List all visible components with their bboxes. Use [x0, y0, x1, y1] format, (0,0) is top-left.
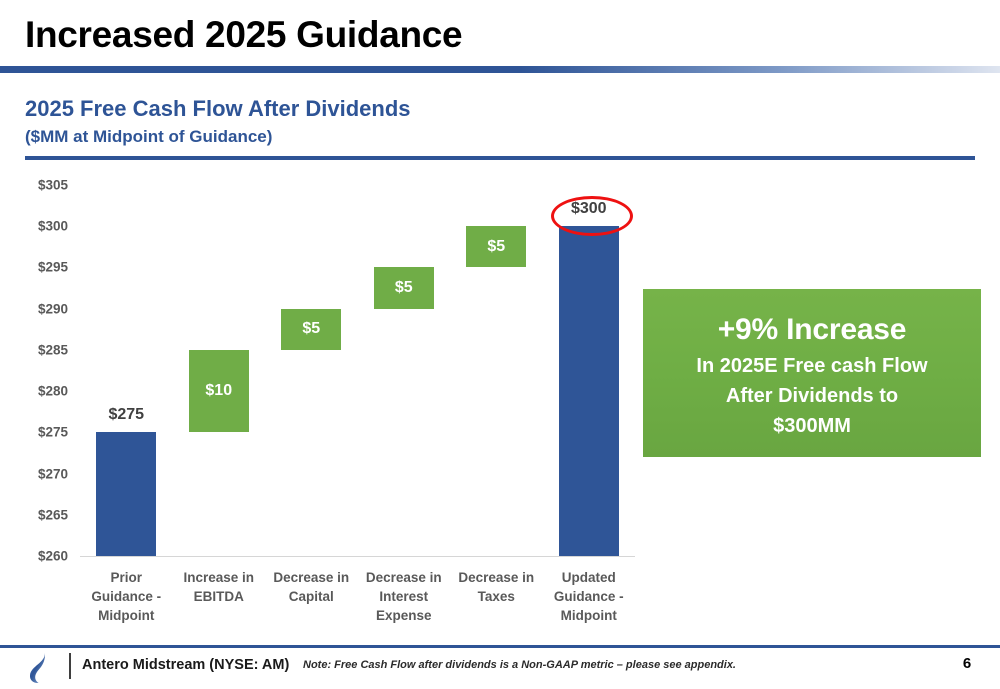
y-axis-tick: $305 [0, 178, 68, 193]
x-axis-label-line: Capital [267, 587, 356, 606]
x-axis-label: PriorGuidance -Midpoint [80, 562, 173, 628]
x-axis-line [80, 556, 635, 557]
x-axis-label: UpdatedGuidance -Midpoint [543, 562, 636, 628]
callout-headline: +9% Increase [643, 312, 981, 348]
plot-area: $275$10$5$5$5$300 [80, 185, 635, 556]
increase-callout-box: +9% Increase In 2025E Free cash Flow Aft… [643, 289, 981, 457]
x-axis-label-line: Decrease in [452, 568, 541, 587]
callout-line-3: $300MM [643, 411, 981, 441]
y-axis-tick: $270 [0, 466, 68, 481]
chart-bar[interactable]: $10 [189, 350, 249, 432]
x-axis-label-line: Decrease in [267, 568, 356, 587]
bar-value-label: $5 [466, 238, 526, 256]
chart-header-divider [25, 156, 975, 160]
chart-bar[interactable] [559, 226, 619, 556]
bar-value-label: $275 [96, 406, 156, 424]
callout-line-2: After Dividends to [643, 381, 981, 411]
antero-flame-logo-icon [26, 652, 54, 682]
x-axis-label: Decrease inCapital [265, 562, 358, 628]
x-axis-label-line: Updated [545, 568, 634, 587]
x-axis-label-line: Guidance - [82, 587, 171, 606]
x-axis-label-line: Interest [360, 587, 449, 606]
x-axis-label-line: Guidance - [545, 587, 634, 606]
footer-divider-line [0, 645, 1000, 648]
x-axis-label: Decrease inTaxes [450, 562, 543, 628]
y-axis: $305$300$295$290$285$280$275$270$265$260 [0, 185, 68, 556]
page-title: Increased 2025 Guidance [25, 14, 462, 56]
x-axis-labels: PriorGuidance -MidpointIncrease inEBITDA… [80, 562, 635, 628]
bar-value-label: $5 [374, 279, 434, 297]
x-axis-label: Increase inEBITDA [173, 562, 266, 628]
x-axis-label-line: Expense [360, 606, 449, 625]
bar-value-label: $300 [559, 200, 619, 218]
y-axis-tick: $290 [0, 301, 68, 316]
chart-heading: 2025 Free Cash Flow After Dividends [25, 96, 411, 122]
chart-bar[interactable] [96, 432, 156, 556]
y-axis-tick: $265 [0, 507, 68, 522]
x-axis-label-line: EBITDA [175, 587, 264, 606]
title-divider [0, 66, 1000, 73]
x-axis-label-line: Decrease in [360, 568, 449, 587]
y-axis-tick: $295 [0, 260, 68, 275]
chart-bar[interactable]: $5 [374, 267, 434, 308]
x-axis-label-line: Midpoint [545, 606, 634, 625]
bar-value-label: $5 [281, 320, 341, 338]
waterfall-chart: $305$300$295$290$285$280$275$270$265$260… [0, 170, 670, 630]
chart-bar[interactable]: $5 [466, 226, 526, 267]
x-axis-label-line: Increase in [175, 568, 264, 587]
page-number: 6 [955, 655, 979, 672]
footer-company-name: Antero Midstream (NYSE: AM) [82, 657, 289, 673]
chart-subheading: ($MM at Midpoint of Guidance) [25, 127, 272, 147]
footer-separator [69, 653, 71, 679]
x-axis-label-line: Prior [82, 568, 171, 587]
footer-note: Note: Free Cash Flow after dividends is … [303, 659, 736, 671]
y-axis-tick: $280 [0, 384, 68, 399]
x-axis-label-line: Taxes [452, 587, 541, 606]
chart-bar[interactable]: $5 [281, 309, 341, 350]
y-axis-tick: $260 [0, 549, 68, 564]
bar-value-label: $10 [189, 382, 249, 400]
x-axis-label-line: Midpoint [82, 606, 171, 625]
y-axis-tick: $285 [0, 342, 68, 357]
y-axis-tick: $300 [0, 219, 68, 234]
y-axis-tick: $275 [0, 425, 68, 440]
x-axis-label: Decrease inInterestExpense [358, 562, 451, 628]
callout-line-1: In 2025E Free cash Flow [643, 351, 981, 381]
